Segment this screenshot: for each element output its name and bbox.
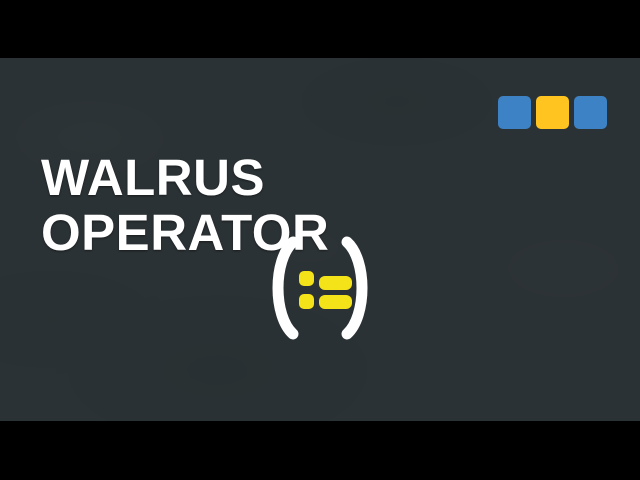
equals-bar-upper-icon	[319, 276, 352, 290]
walrus-operator-logo-svg	[257, 230, 383, 346]
colon-dot-lower-icon	[299, 294, 314, 309]
walrus-operator-logo	[0, 230, 640, 346]
letterbox-bar-bottom	[0, 421, 640, 480]
brand-square-yellow-mid	[536, 96, 569, 129]
video-frame: WALRUSOPERATOR	[0, 0, 640, 480]
brand-square-blue-left	[498, 96, 531, 129]
title-slide: WALRUSOPERATOR	[0, 58, 640, 421]
colon-dot-upper-icon	[299, 271, 314, 286]
letterbox-bar-top	[0, 0, 640, 58]
brand-squares-group	[498, 96, 607, 129]
left-paren-icon	[278, 242, 293, 334]
equals-bar-lower-icon	[319, 295, 352, 309]
page-title-line-1: WALRUS	[41, 150, 329, 205]
brand-square-blue-right	[574, 96, 607, 129]
